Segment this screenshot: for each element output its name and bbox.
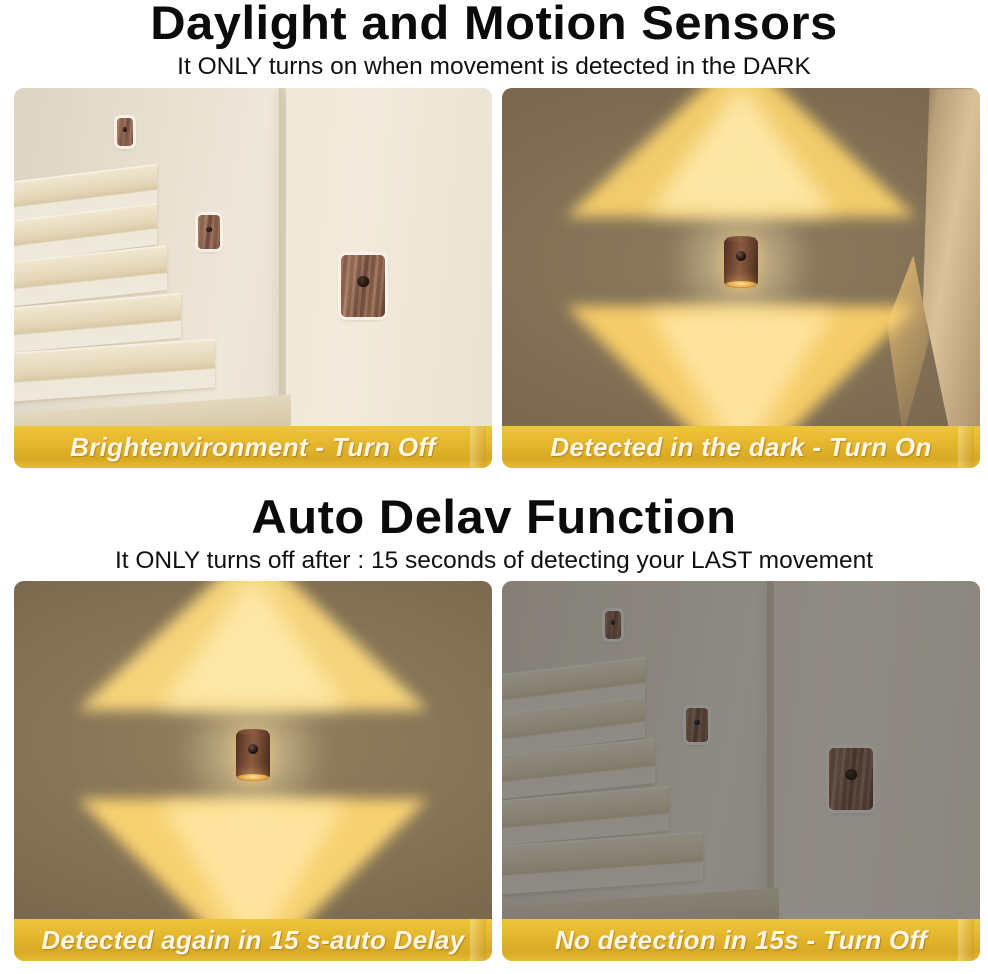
motion-sensor-eye-icon <box>846 769 857 780</box>
wall-light-fixture-off <box>829 748 873 810</box>
wall-light-fixture-off <box>198 215 220 249</box>
panel-detected-in-dark: Detected in the dark - Turn On <box>502 88 980 468</box>
motion-sensor-eye-icon <box>248 744 258 754</box>
fixture-top-cap <box>726 236 756 242</box>
photo-wall-light-on <box>502 88 980 436</box>
fixture-bottom-emitter <box>237 774 269 781</box>
motion-sensor-eye-icon <box>206 227 212 233</box>
wall-light-fixture-off <box>605 611 621 639</box>
wall-right <box>774 581 980 929</box>
photo-staircase-dark <box>502 581 980 929</box>
motion-sensor-eye-icon <box>694 720 700 726</box>
caption-bar: Detected again in 15 s-auto Delay <box>14 919 492 961</box>
motion-sensor-eye-icon <box>358 276 369 287</box>
wall-light-fixture-on <box>724 239 758 285</box>
panel-detected-again-delay: Detected again in 15 s-auto Delay <box>14 581 492 961</box>
caption-bar: Brightenvironment - Turn Off <box>14 426 492 468</box>
headline-daylight-motion-sensors: Daylight and Motion Sensors <box>0 0 988 48</box>
panel-bright-environment: Brightenvironment - Turn Off <box>14 88 492 468</box>
panel-no-detection-off: No detection in 15s - Turn Off <box>502 581 980 961</box>
photo-staircase-daylight <box>14 88 492 436</box>
subheadline-turns-off-after-15-seconds: It ONLY turns off after : 15 seconds of … <box>0 546 988 576</box>
section-heading-auto-delay: Auto Delav Function It ONLY turns off af… <box>0 492 988 576</box>
caption-label: Detected again in 15 s-auto Delay <box>41 925 464 956</box>
wall-light-fixture-off <box>686 708 708 742</box>
fixture-top-cap <box>238 729 268 735</box>
wall-light-fixture-off <box>341 255 385 317</box>
photo-wall-light-on-delay <box>14 581 492 929</box>
motion-sensor-eye-icon <box>611 620 615 625</box>
caption-label: Brightenvironment - Turn Off <box>70 432 436 463</box>
wall-light-fixture-on <box>236 732 270 778</box>
curtain <box>908 88 980 436</box>
scene-staircase-dark <box>502 581 980 929</box>
section-heading-sensors: Daylight and Motion Sensors It ONLY turn… <box>0 0 988 82</box>
wall-right <box>286 88 492 436</box>
fixture-bottom-emitter <box>725 281 757 288</box>
caption-bar: Detected in the dark - Turn On <box>502 426 980 468</box>
caption-label: No detection in 15s - Turn Off <box>555 925 927 956</box>
motion-sensor-eye-icon <box>123 127 127 132</box>
caption-bar: No detection in 15s - Turn Off <box>502 919 980 961</box>
scene-wall-night <box>502 88 980 436</box>
motion-sensor-eye-icon <box>736 251 746 261</box>
subheadline-turns-on-in-dark: It ONLY turns on when movement is detect… <box>0 52 988 82</box>
wall-light-fixture-off <box>117 118 133 146</box>
headline-auto-delay-function: Auto Delav Function <box>0 492 988 542</box>
caption-label: Detected in the dark - Turn On <box>550 432 931 463</box>
scene-wall-night <box>14 581 492 929</box>
scene-staircase-bright <box>14 88 492 436</box>
product-feature-graphic: Daylight and Motion Sensors It ONLY turn… <box>0 0 988 974</box>
